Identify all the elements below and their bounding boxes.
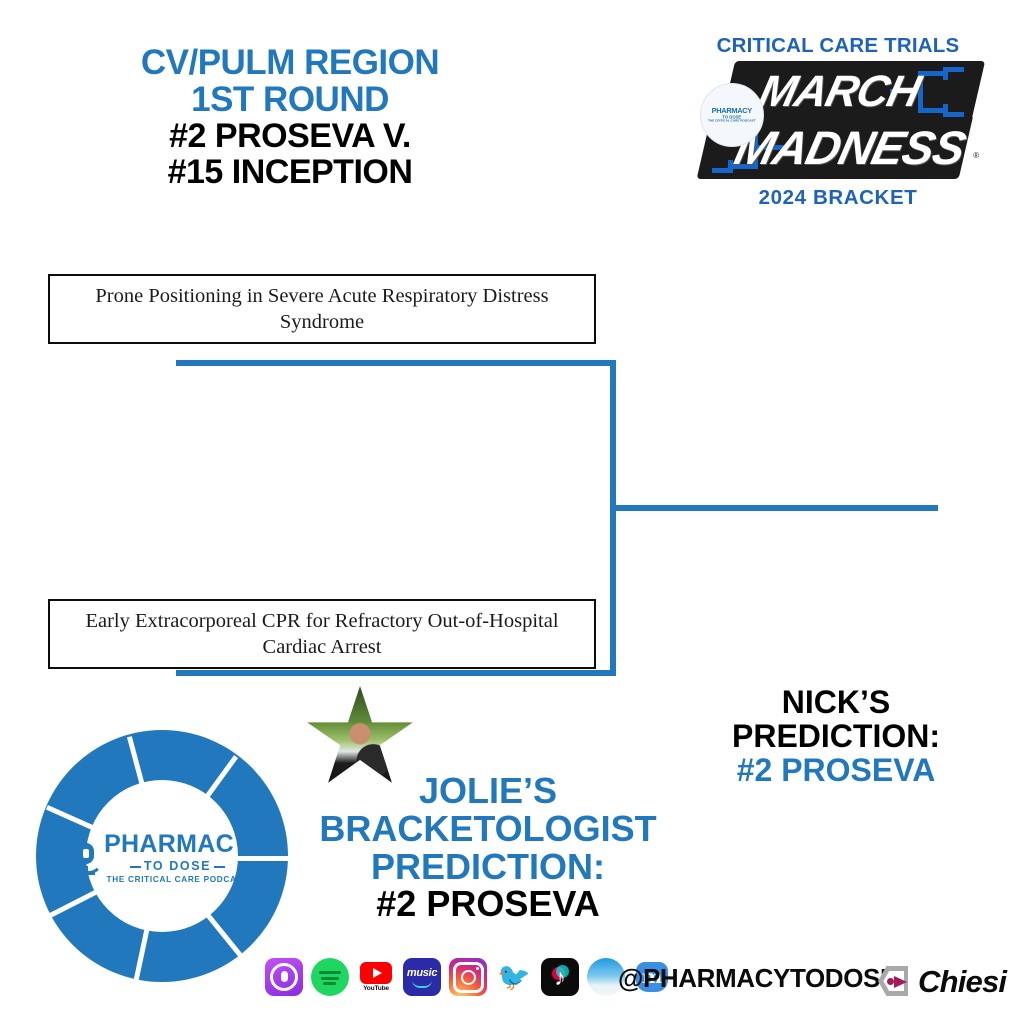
tiktok-note-glyph: ♪ — [554, 964, 566, 990]
march-madness-logo: CRITICAL CARE TRIALS — [688, 34, 988, 214]
title-line-team-b: #15 INCEPTION — [60, 154, 520, 190]
title-line-region: CV/PULM REGION — [60, 44, 520, 81]
badge-line-1: PHARMACY — [708, 107, 755, 115]
bracket-game-box-top[interactable]: Prone Positioning in Severe Acute Respir… — [48, 274, 596, 344]
podcast-name: PHARMACY — [104, 832, 251, 857]
nick-prediction: NICK’S PREDICTION: #2 PROSEVA — [688, 685, 984, 788]
nick-prediction-line-2: PREDICTION: — [688, 719, 984, 753]
amazon-music-icon[interactable]: music — [403, 958, 441, 996]
march-madness-word-madness: MADNESS — [730, 120, 971, 175]
game-title-bottom: Early Extracorporeal CPR for Refractory … — [60, 608, 584, 660]
nick-prediction-winner: #2 PROSEVA — [688, 753, 984, 787]
jolie-prediction-winner: #2 PROSEVA — [278, 885, 698, 923]
title-line-team-a: #2 PROSEVA V. — [60, 118, 520, 154]
social-media-bar: YouTube music 🐦 ♪ m — [265, 952, 671, 1002]
chiesi-wordmark: Chiesi — [918, 966, 1006, 997]
jolie-prediction-line-1: JOLIE’S — [278, 772, 698, 810]
bracket-connector-vertical — [610, 360, 616, 676]
bracket-game-box-bottom[interactable]: Early Extracorporeal CPR for Refractory … — [48, 599, 596, 669]
march-madness-top-text: CRITICAL CARE TRIALS — [688, 34, 988, 58]
apple-podcasts-icon[interactable] — [265, 958, 303, 996]
chiesi-sponsor-logo: Chiesi — [878, 960, 1006, 1002]
chiesi-mark-icon — [878, 966, 914, 996]
logo-center-disc: PHARMACY TO DOSE THE CRITICAL CARE PODCA… — [86, 780, 238, 932]
page-title: CV/PULM REGION 1ST ROUND #2 PROSEVA V. #… — [60, 44, 520, 190]
title-line-round: 1ST ROUND — [60, 81, 520, 118]
youtube-icon[interactable]: YouTube — [357, 958, 395, 996]
twitter-icon[interactable]: 🐦 — [495, 958, 533, 996]
bracket-connector-advance — [610, 505, 938, 511]
nick-prediction-line-1: NICK’S — [688, 685, 984, 719]
march-madness-word-march: MARCH — [754, 67, 924, 117]
march-madness-bottom-text: 2024 BRACKET — [688, 186, 988, 210]
social-handle: @PHARMACYTODOSE — [618, 963, 897, 994]
podcast-tagline: THE CRITICAL CARE PODCAST — [107, 876, 249, 884]
tiktok-icon[interactable]: ♪ — [541, 958, 579, 996]
jolie-prediction-line-2: BRACKETOLOGIST — [278, 810, 698, 848]
game-title-top: Prone Positioning in Severe Acute Respir… — [60, 283, 584, 335]
spotify-icon[interactable] — [311, 958, 349, 996]
jolie-prediction: JOLIE’S BRACKETOLOGIST PREDICTION: #2 PR… — [278, 772, 698, 923]
badge-line-3: THE CRITICAL CARE PODCAST — [708, 120, 755, 124]
bracket-connector-bottom — [176, 670, 616, 676]
poster-canvas: CV/PULM REGION 1ST ROUND #2 PROSEVA V. #… — [0, 0, 1024, 1024]
amazon-music-wordmark: music — [407, 967, 437, 979]
twitter-bird-glyph: 🐦 — [497, 964, 531, 991]
march-madness-banner: MARCH MADNESS ® PHARMACY TO DOSE THE CRI… — [694, 59, 982, 187]
registered-trademark-mark: ® — [973, 151, 979, 160]
bracket-connector-top — [176, 360, 616, 366]
microphone-icon — [73, 841, 99, 875]
youtube-wordmark: YouTube — [363, 985, 389, 992]
jolie-prediction-line-3: PREDICTION: — [278, 848, 698, 886]
march-madness-badge-icon: PHARMACY TO DOSE THE CRITICAL CARE PODCA… — [700, 83, 764, 147]
instagram-icon[interactable] — [449, 958, 487, 996]
pharmacy-to-dose-logo: PHARMACY TO DOSE THE CRITICAL CARE PODCA… — [36, 730, 288, 982]
podcast-subtitle: TO DOSE — [130, 860, 225, 873]
